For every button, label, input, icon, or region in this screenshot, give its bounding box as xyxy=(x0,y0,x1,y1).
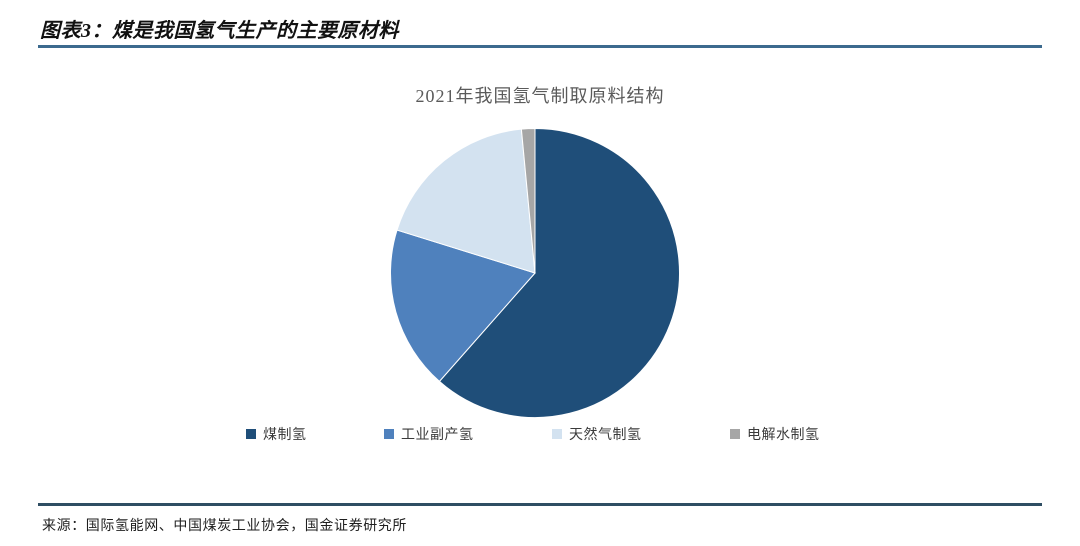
legend-label-electrolysis: 电解水制氢 xyxy=(747,424,820,444)
chart-legend: 煤制氢 工业副产氢 天然气制氢 电解水制氢 xyxy=(0,424,1080,450)
page-title: 图表3：煤是我国氢气生产的主要原材料 xyxy=(40,14,399,43)
legend-label-natural-gas: 天然气制氢 xyxy=(569,424,642,444)
pie-chart-svg xyxy=(390,128,680,418)
legend-item-industrial-byproduct[interactable]: 工业副产氢 xyxy=(384,424,474,444)
header-divider xyxy=(38,45,1042,48)
legend-swatch-electrolysis xyxy=(730,429,740,439)
pie-slice-group xyxy=(390,129,679,418)
footer-divider xyxy=(38,503,1042,506)
legend-item-electrolysis[interactable]: 电解水制氢 xyxy=(730,424,820,444)
figure-page: 图表3：煤是我国氢气生产的主要原材料 2021年我国氢气制取原料结构 煤制氢 工… xyxy=(0,0,1080,546)
legend-item-natural-gas[interactable]: 天然气制氢 xyxy=(552,424,642,444)
chart-title: 2021年我国氢气制取原料结构 xyxy=(0,82,1080,108)
legend-item-coal[interactable]: 煤制氢 xyxy=(246,424,307,444)
legend-label-industrial-byproduct: 工业副产氢 xyxy=(401,424,474,444)
pie-chart xyxy=(390,128,680,418)
legend-swatch-industrial-byproduct xyxy=(384,429,394,439)
legend-label-coal: 煤制氢 xyxy=(263,424,307,444)
source-note: 来源：国际氢能网、中国煤炭工业协会，国金证券研究所 xyxy=(42,515,407,535)
legend-swatch-coal xyxy=(246,429,256,439)
legend-swatch-natural-gas xyxy=(552,429,562,439)
